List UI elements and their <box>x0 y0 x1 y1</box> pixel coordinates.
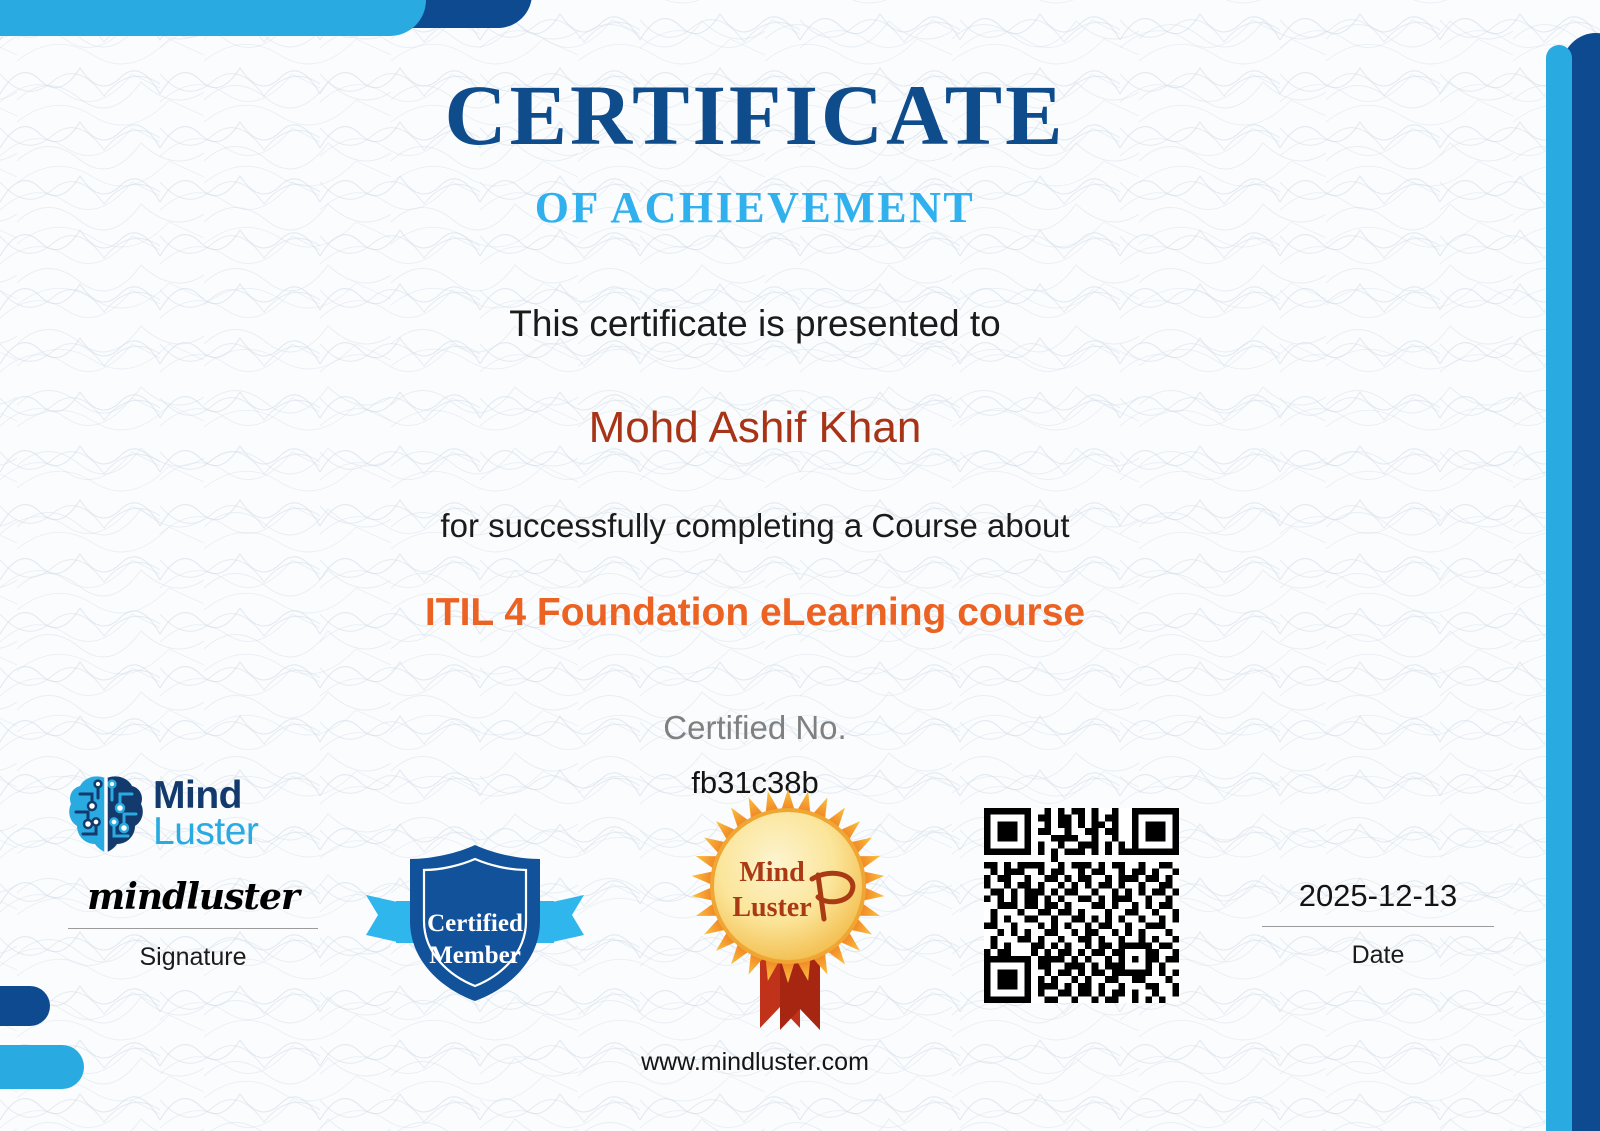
presented-to-text: This certificate is presented to <box>0 303 1510 345</box>
signature-block: Mind Luster mindluster Signature <box>68 768 318 972</box>
signature-script-text: mindluster <box>68 876 318 918</box>
seal-text-line1: Mind <box>739 857 805 888</box>
completion-text: for successfully completing a Course abo… <box>0 507 1510 545</box>
issue-date-value: 2025-12-13 <box>1262 878 1494 914</box>
signature-label: Signature <box>68 943 318 972</box>
brain-circuit-icon <box>68 772 144 856</box>
certificate-title: CERTIFICATE <box>0 70 1510 160</box>
date-label: Date <box>1262 941 1494 970</box>
seal-text-line2: Luster <box>732 892 811 923</box>
shield-text-line1: Certified <box>427 910 523 937</box>
website-url[interactable]: www.mindluster.com <box>0 1048 1510 1077</box>
certified-member-shield-icon: Certified Member <box>366 843 584 1003</box>
logo-text-mind: Mind <box>153 778 258 814</box>
award-rosette-icon: Mind Luster <box>688 783 888 1033</box>
shield-text-line2: Member <box>429 942 521 969</box>
certificate-document: CERTIFICATE OF ACHIEVEMENT This certific… <box>0 0 1600 1131</box>
course-name: ITIL 4 Foundation eLearning course <box>0 591 1510 635</box>
certificate-content: CERTIFICATE OF ACHIEVEMENT This certific… <box>0 0 1510 1131</box>
certificate-title-block: CERTIFICATE OF ACHIEVEMENT <box>0 0 1510 233</box>
logo-text-luster: Luster <box>153 814 258 850</box>
date-rule <box>1262 926 1494 927</box>
certificate-footer-row: Mind Luster mindluster Signature Certifi <box>0 768 1510 1068</box>
mindluster-wordmark: Mind Luster <box>153 778 258 850</box>
mindluster-logo: Mind Luster <box>68 768 318 860</box>
decoration-right-blue-bar <box>1546 45 1572 1131</box>
certified-no-label: Certified No. <box>0 709 1510 747</box>
date-block: 2025-12-13 Date <box>1262 878 1494 970</box>
recipient-name: Mohd Ashif Khan <box>0 403 1510 453</box>
certificate-subtitle: OF ACHIEVEMENT <box>0 182 1510 233</box>
signature-rule <box>68 928 318 929</box>
qr-code-icon[interactable] <box>984 808 1179 1003</box>
